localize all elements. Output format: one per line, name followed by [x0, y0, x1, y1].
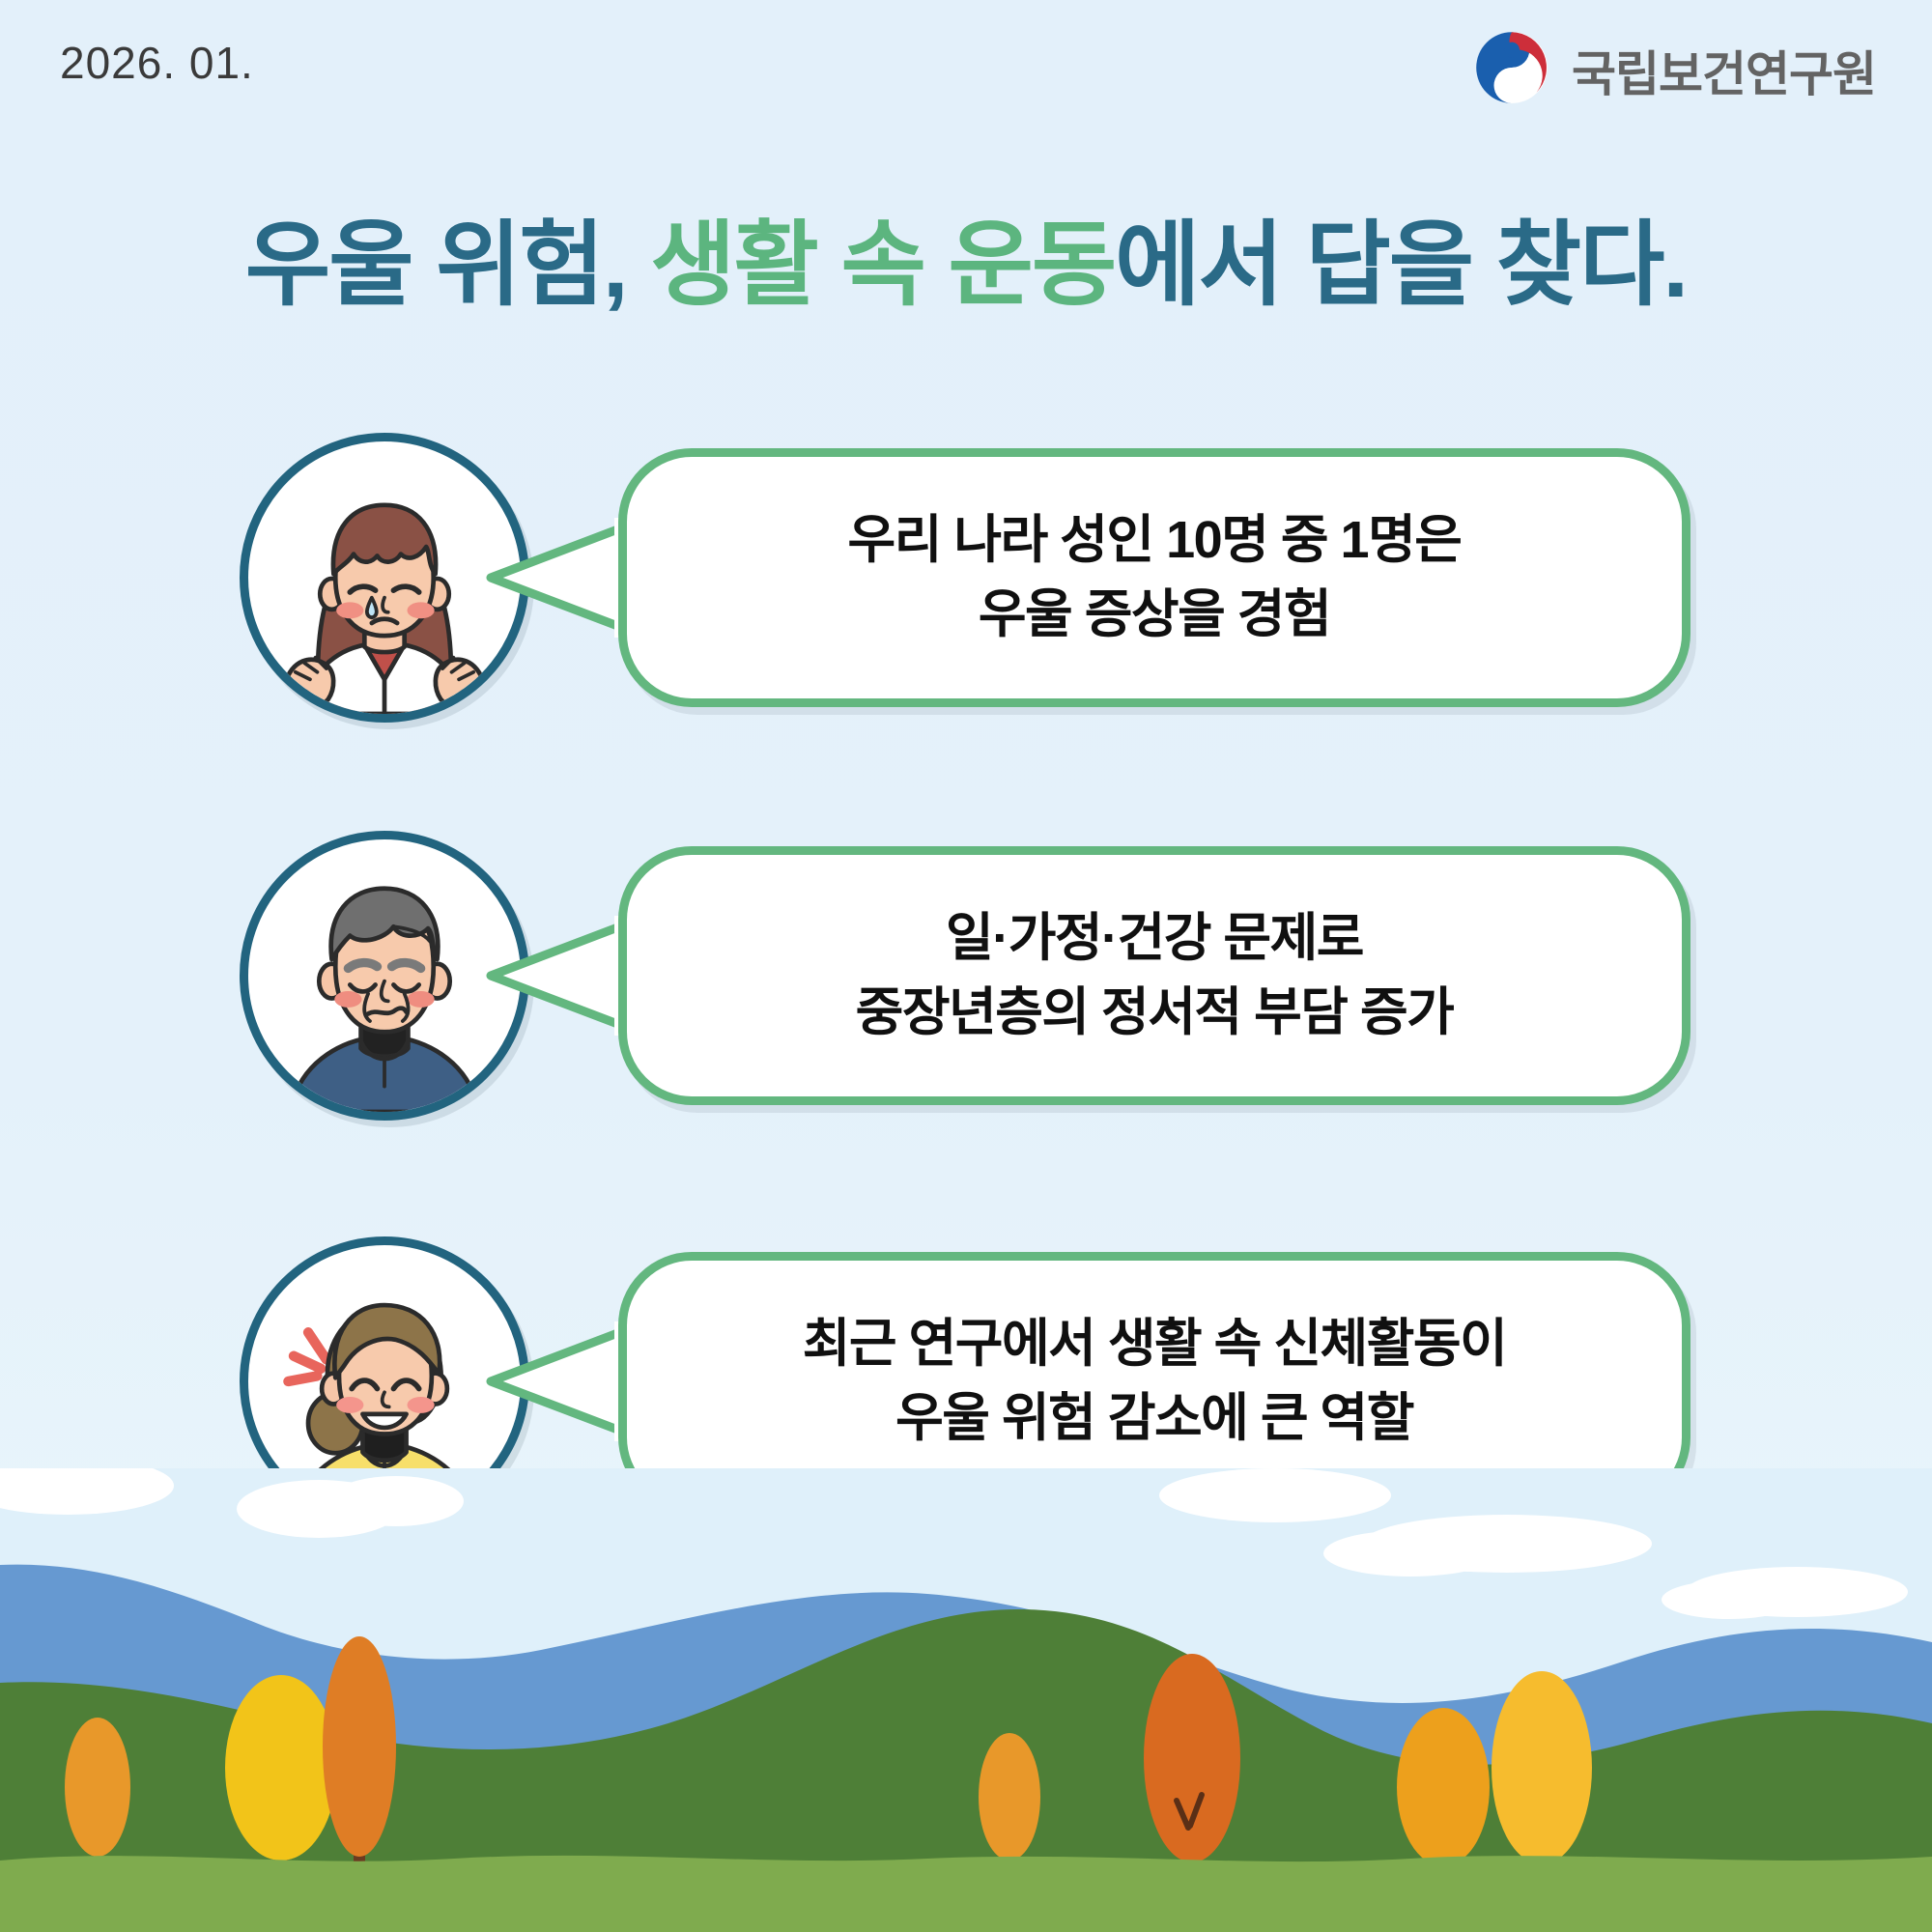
title-part2: 에서 답을 찾다. [1115, 213, 1687, 317]
page-title: 우울 위험, 생활 속 운동에서 답을 찾다. [0, 189, 1932, 324]
bubble-tail-2 [481, 916, 636, 1036]
institute-logo: 국립보건연구원 [1473, 29, 1876, 111]
institute-name: 국립보건연구원 [1572, 36, 1876, 105]
bubble-tail-3 [481, 1321, 636, 1441]
autumn-landscape-illustration [0, 1468, 1932, 1932]
bubble-line: 중장년층의 정서적 부담 증가 [856, 976, 1454, 1050]
title-highlight: 생활 속 운동 [650, 213, 1115, 317]
bubble-line: 우울 위험 감소에 큰 역할 [803, 1381, 1507, 1456]
content-row-2: 일·가정·건강 문제로 중장년층의 정서적 부담 증가 [0, 831, 1932, 1121]
title-part1: 우울 위험, [245, 213, 650, 317]
speech-bubble-2: 일·가정·건강 문제로 중장년층의 정서적 부담 증가 [618, 846, 1690, 1105]
content-row-1: 우리 나라 성인 10명 중 1명은 우울 증상을 경험 [0, 433, 1932, 723]
bubble-line: 일·가정·건강 문제로 [856, 901, 1454, 976]
bubble-tail-1 [481, 518, 636, 638]
speech-bubble-1: 우리 나라 성인 10명 중 1명은 우울 증상을 경험 [618, 448, 1690, 707]
infographic-poster: 2026. 01. 국립보건연구원 우울 위험, 생활 속 운동에서 답을 찾다… [0, 0, 1932, 1932]
grass-foreground [0, 1856, 1932, 1932]
taegeuk-icon [1473, 29, 1550, 111]
bubble-line: 우울 증상을 경험 [848, 578, 1462, 652]
bubble-line: 우리 나라 성인 10명 중 1명은 [848, 503, 1462, 578]
bubble-line: 최근 연구에서 생활 속 신체활동이 [803, 1307, 1507, 1381]
date-label: 2026. 01. [60, 37, 254, 89]
